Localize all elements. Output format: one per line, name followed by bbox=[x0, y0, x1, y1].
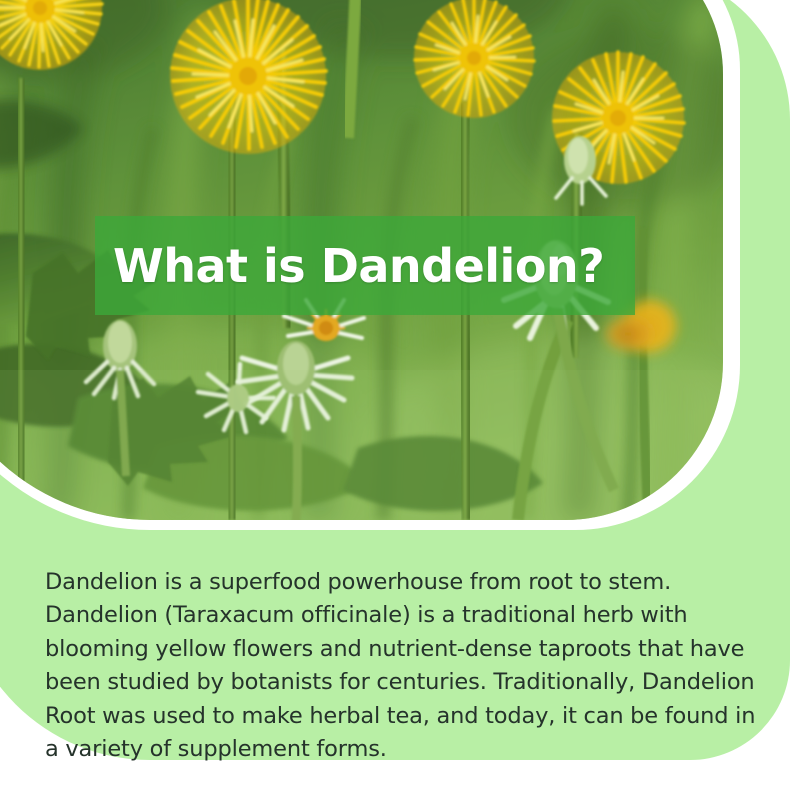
infographic-card: What is Dandelion? Dandelion is a superf… bbox=[0, 0, 800, 800]
page-title: What is Dandelion? bbox=[95, 239, 604, 293]
body-paragraph: Dandelion is a superfood powerhouse from… bbox=[45, 566, 757, 767]
title-banner: What is Dandelion? bbox=[95, 216, 635, 315]
